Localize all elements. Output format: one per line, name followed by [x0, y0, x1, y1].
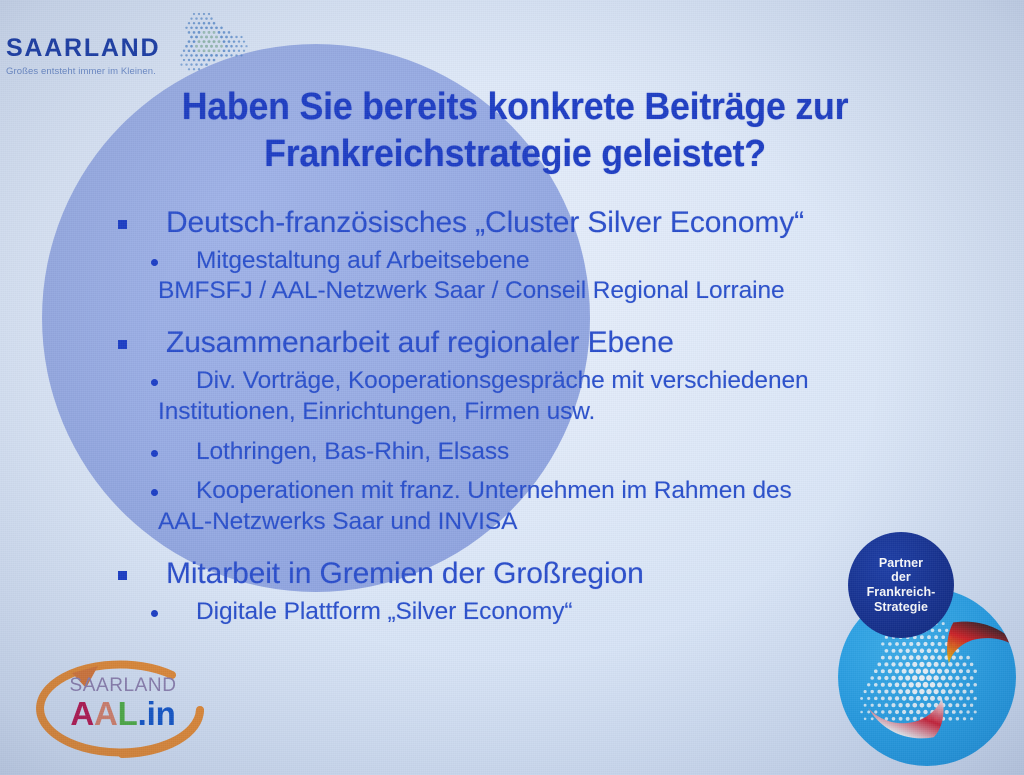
bullet-line: Div. Vorträge, Kooperationsgespräche mit…: [196, 366, 809, 397]
dot-bullet-icon: [151, 610, 158, 617]
bullet-line: AAL-Netzwerks Saar und INVISA: [158, 507, 792, 538]
bullet-block: Deutsch-französisches „Cluster Silver Ec…: [118, 205, 998, 307]
partner-line: Frankreich-: [867, 585, 936, 600]
bullet-level1: Deutsch-französisches „Cluster Silver Ec…: [118, 205, 998, 242]
slide-title-line-2: Frankreichstrategie geleistet?: [97, 131, 934, 178]
bullet-level1-label: Zusammenarbeit auf regionaler Ebene: [166, 325, 674, 362]
bullet-line: Institutionen, Einrichtungen, Firmen usw…: [158, 397, 809, 428]
dotted-saarland-map-icon: [168, 10, 250, 76]
partner-line: der: [867, 570, 936, 585]
slide-title-line-1: Haben Sie bereits konkrete Beiträge zur: [97, 84, 934, 131]
partner-label-text: Partner der Frankreich- Strategie: [867, 556, 936, 615]
bullet-level2-label: Lothringen, Bas-Rhin, Elsass: [196, 437, 509, 468]
aal-letter-a1: A: [70, 695, 94, 732]
presentation-slide: SAARLAND Großes entsteht immer im Kleine…: [0, 0, 1024, 775]
square-bullet-icon: [118, 340, 127, 349]
square-bullet-icon: [118, 571, 127, 580]
bullet-level2-label: Div. Vorträge, Kooperationsgespräche mit…: [196, 366, 809, 428]
bullet-level1-label: Mitarbeit in Gremien der Großregion: [166, 556, 644, 593]
bullet-line: BMFSFJ / AAL-Netzwerk Saar / Conseil Reg…: [158, 276, 785, 307]
aal-in-logo: SAARLAND AAL.in: [22, 652, 222, 764]
bullet-level2-label: Digitale Plattform „Silver Economy“: [196, 597, 572, 628]
bullet-line: Kooperationen mit franz. Unternehmen im …: [196, 476, 792, 507]
partner-frankreich-strategie-badge: Partner der Frankreich- Strategie: [830, 520, 1024, 775]
saarland-logo-text: SAARLAND Großes entsteht immer im Kleine…: [6, 8, 160, 77]
saarland-logo: SAARLAND Großes entsteht immer im Kleine…: [6, 8, 250, 77]
bullet-level1: Zusammenarbeit auf regionaler Ebene: [118, 325, 998, 362]
dot-bullet-icon: [151, 489, 158, 496]
dot-bullet-icon: [151, 259, 158, 266]
aal-letter-a2: A: [94, 695, 118, 732]
slide-title: Haben Sie bereits konkrete Beiträge zur …: [97, 84, 934, 177]
aal-in-acronym: AAL.in: [52, 697, 194, 730]
bullet-block: Zusammenarbeit auf regionaler Ebene Div.…: [118, 325, 998, 538]
dot-bullet-icon: [151, 379, 158, 386]
aal-letter-l: L: [118, 695, 138, 732]
square-bullet-icon: [118, 220, 127, 229]
partner-line: Strategie: [867, 600, 936, 615]
bullet-level2-label: Kooperationen mit franz. Unternehmen im …: [196, 476, 792, 538]
bullet-level2-label: Mitgestaltung auf Arbeitsebene BMFSFJ / …: [196, 246, 785, 308]
bullet-level1-label: Deutsch-französisches „Cluster Silver Ec…: [166, 205, 804, 242]
saarland-wordmark: SAARLAND: [6, 36, 160, 61]
partner-line: Partner: [867, 556, 936, 571]
aal-letter-in: in: [147, 695, 176, 732]
bullet-level2: Div. Vorträge, Kooperationsgespräche mit…: [151, 366, 998, 428]
aal-letter-dot: .: [138, 695, 147, 732]
bullet-level2: Lothringen, Bas-Rhin, Elsass: [151, 437, 998, 468]
aal-saarland-word: SAARLAND: [52, 676, 194, 695]
saarland-tagline: Großes entsteht immer im Kleinen.: [6, 66, 160, 77]
dot-bullet-icon: [151, 450, 158, 457]
bullet-line: Mitgestaltung auf Arbeitsebene: [196, 246, 785, 277]
aal-in-logo-text: SAARLAND AAL.in: [52, 676, 194, 730]
bullet-line: Digitale Plattform „Silver Economy“: [196, 597, 572, 628]
bullet-level2: Mitgestaltung auf Arbeitsebene BMFSFJ / …: [151, 246, 998, 308]
bullet-line: Lothringen, Bas-Rhin, Elsass: [196, 437, 509, 468]
partner-label-disc: Partner der Frankreich- Strategie: [848, 532, 954, 638]
